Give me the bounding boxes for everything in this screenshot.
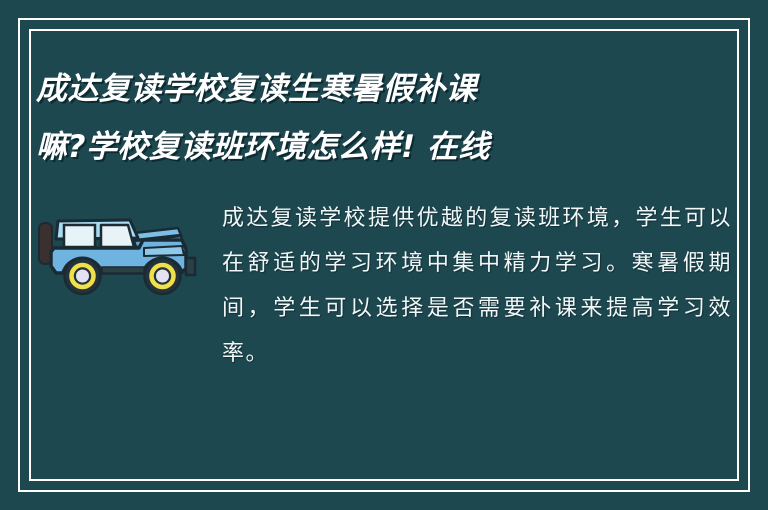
headline: 成达复读学校复读生寒暑假补课 嘛?学校复读班环境怎么样! 在线	[36, 60, 636, 176]
body-text: 成达复读学校提供优越的复读班环境，学生可以在舒适的学习环境中集中精力学习。寒暑假…	[222, 196, 732, 376]
headline-line-2: 嘛?学校复读班环境怎么样! 在线	[36, 118, 636, 176]
poster-canvas: 成达复读学校复读生寒暑假补课 嘛?学校复读班环境怎么样! 在线	[0, 0, 768, 510]
body-paragraph: 成达复读学校提供优越的复读班环境，学生可以在舒适的学习环境中集中精力学习。寒暑假…	[222, 196, 732, 376]
jeep-illustration	[36, 196, 208, 296]
content-row: 成达复读学校提供优越的复读班环境，学生可以在舒适的学习环境中集中精力学习。寒暑假…	[36, 196, 732, 376]
headline-line-1: 成达复读学校复读生寒暑假补课	[36, 60, 636, 118]
jeep-icon	[36, 200, 201, 296]
